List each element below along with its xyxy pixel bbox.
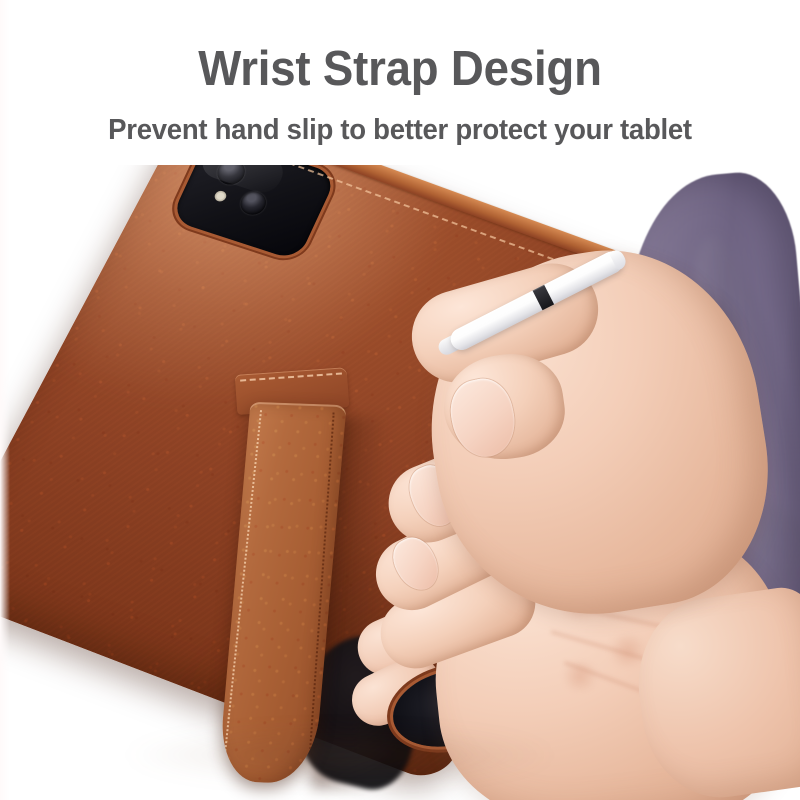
camera-flash-icon xyxy=(213,189,228,202)
product-banner: Wrist Strap Design Prevent hand slip to … xyxy=(0,0,800,800)
knuckle-shading xyxy=(560,661,600,691)
camera-glass-gloss xyxy=(196,165,288,198)
camera-lens-icon xyxy=(237,189,270,218)
product-photo xyxy=(0,165,800,800)
page-title: Wrist Strap Design xyxy=(28,44,772,95)
page-subtitle: Prevent hand slip to better protect your… xyxy=(20,115,780,145)
product-drop-shadow xyxy=(120,725,560,785)
left-edge-vignette xyxy=(0,0,10,800)
